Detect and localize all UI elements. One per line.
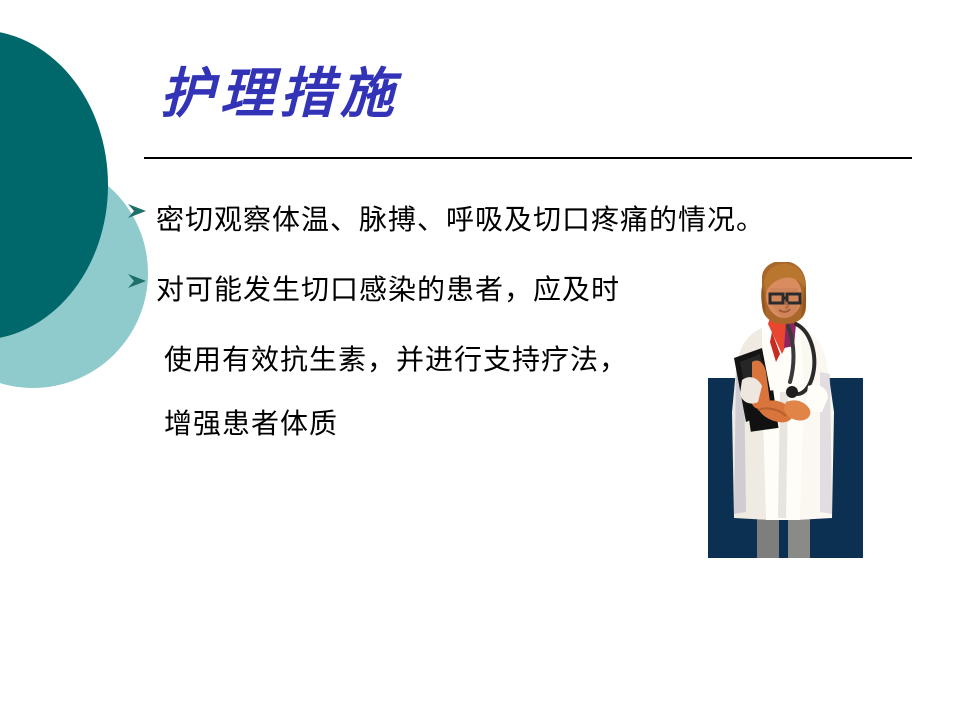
slide-canvas: 护理措施 密切观察体温、脉搏、呼吸及切口疼痛的情况。 对可能发生切口感染的患者，… [0,0,960,720]
doctor-clipart-image [700,262,872,564]
slide-title: 护理措施 [160,64,860,123]
title-divider [144,157,912,159]
arrowhead-bullet-icon [126,258,156,290]
arrowhead-bullet-icon [126,188,156,220]
list-item-text: 密切观察体温、脉搏、呼吸及切口疼痛的情况。 [156,188,926,252]
list-item: 密切观察体温、脉搏、呼吸及切口疼痛的情况。 [126,188,926,252]
